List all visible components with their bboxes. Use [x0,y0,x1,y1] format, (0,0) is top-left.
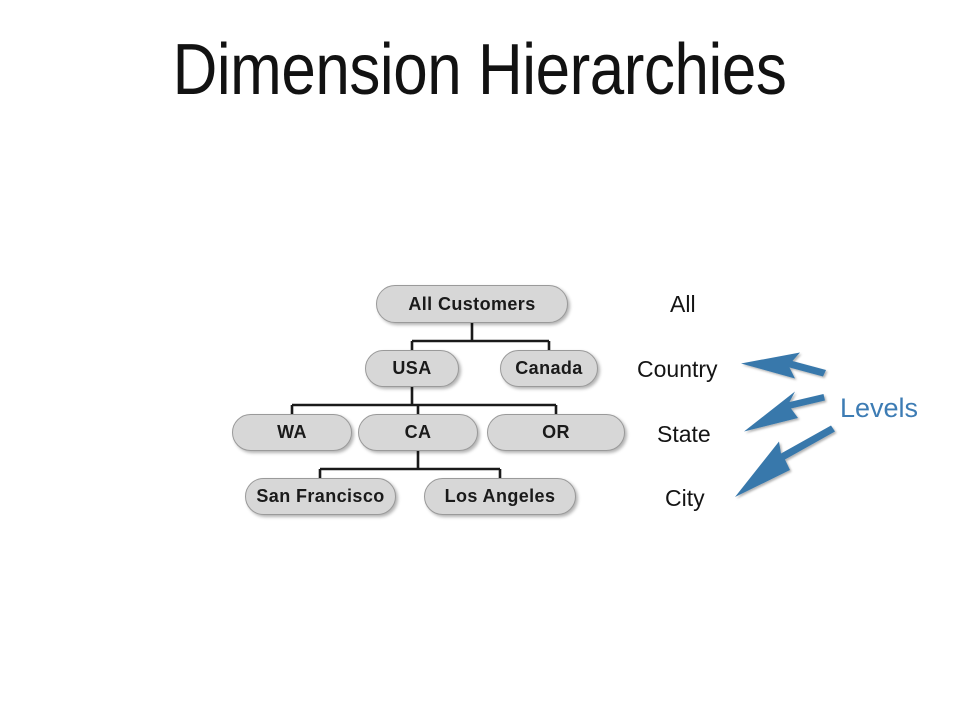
node-label: All Customers [408,294,535,315]
hierarchy-connectors [0,0,959,720]
node-usa[interactable]: USA [365,350,459,387]
node-label: WA [277,422,307,443]
level-label-all: All [670,291,696,318]
levels-callout-label: Levels [840,393,918,424]
dimension-hierarchy-diagram: All Customers USA Canada WA CA OR San Fr… [0,0,959,720]
level-label-text: All [670,291,696,317]
level-label-city: City [665,485,705,512]
node-label: Canada [515,358,582,379]
node-san-francisco[interactable]: San Francisco [245,478,396,515]
node-canada[interactable]: Canada [500,350,598,387]
node-label: USA [392,358,431,379]
arrow-to-state-icon [744,392,825,432]
slide-canvas: Dimension Hierarchies [0,0,959,720]
level-label-state: State [657,421,711,448]
node-label: CA [405,422,432,443]
node-label: San Francisco [256,486,384,507]
levels-callout-arrows [0,0,959,720]
node-ca[interactable]: CA [358,414,478,451]
node-or[interactable]: OR [487,414,625,451]
level-label-text: City [665,485,705,511]
node-label: Los Angeles [445,486,556,507]
node-wa[interactable]: WA [232,414,352,451]
arrow-to-country-icon [741,353,826,379]
node-los-angeles[interactable]: Los Angeles [424,478,576,515]
level-label-country: Country [637,356,718,383]
arrow-to-city-icon [735,426,835,498]
level-label-text: State [657,421,711,447]
node-all-customers[interactable]: All Customers [376,285,568,323]
node-label: OR [542,422,570,443]
level-label-text: Country [637,356,718,382]
